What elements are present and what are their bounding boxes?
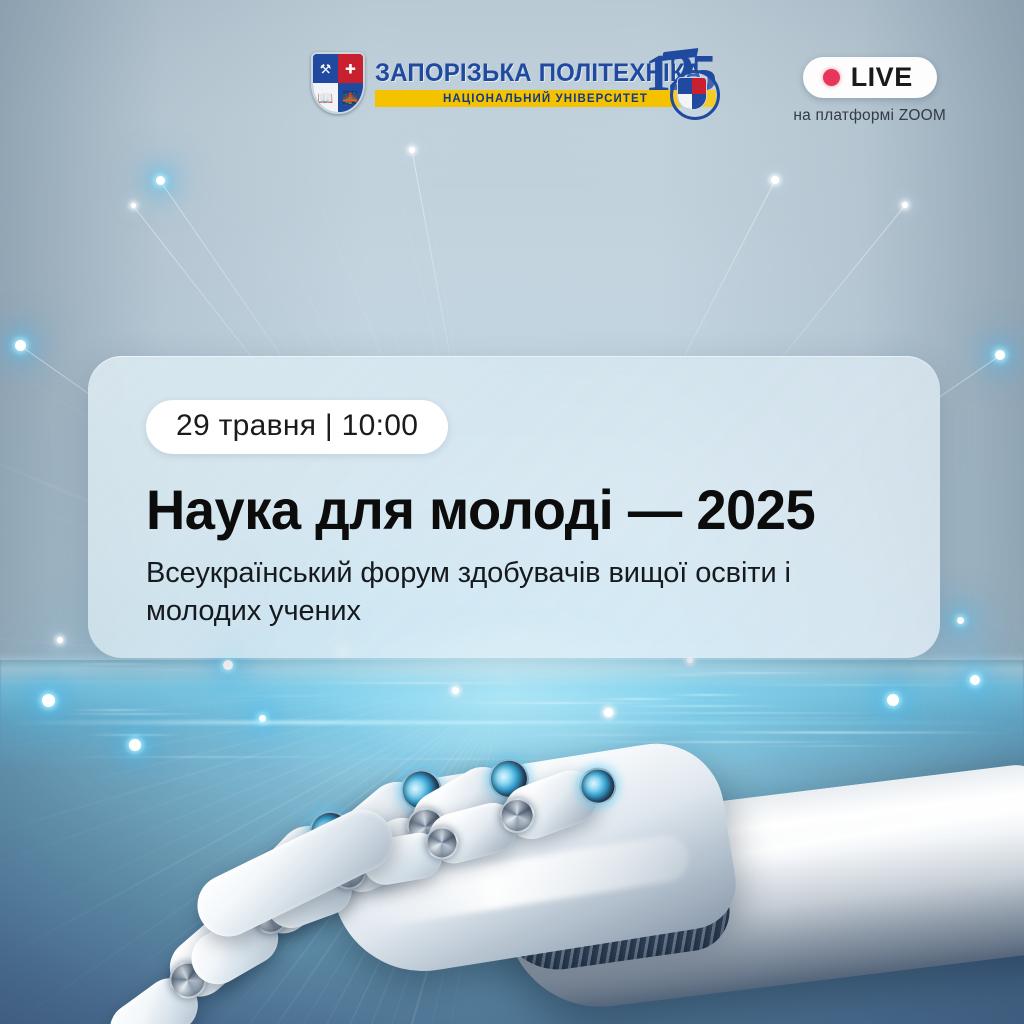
anniversary-shield-icon [677, 77, 707, 110]
live-broadcast-block: LIVE на платформі ZOOM [793, 57, 946, 125]
poster-header: ⚒ ✚ 📖 🌉 ЗАПОРІЗЬКА ПОЛІТЕХНІКА НАЦІОНАЛЬ… [0, 0, 1024, 150]
event-info-content: 29 травня | 10:00 Наука для молоді — 202… [88, 356, 940, 658]
platform-note: на платформі ZOOM [793, 107, 946, 125]
robotic-hand-illustration [0, 594, 1024, 1024]
shield-symbol-tools: ⚒ [320, 62, 332, 75]
event-title: Наука для молоді — 2025 [146, 481, 860, 538]
125-anniversary-icon: 125 [645, 48, 725, 116]
shield-symbol-cross: ✚ [345, 62, 356, 75]
event-subtitle: Всеукраїнський форум здобувачів вищої ос… [146, 554, 876, 631]
robot-finger [420, 791, 421, 792]
live-badge[interactable]: LIVE [803, 57, 937, 98]
poster-canvas: ⚒ ✚ 📖 🌉 ЗАПОРІЗЬКА ПОЛІТЕХНІКА НАЦІОНАЛЬ… [0, 0, 1024, 1024]
event-date-badge: 29 травня | 10:00 [146, 400, 448, 454]
live-label: LIVE [851, 64, 913, 91]
hand-glow-line [0, 721, 1024, 724]
zp-shield-emblem-icon: ⚒ ✚ 📖 🌉 [311, 52, 365, 114]
shield-symbol-book: 📖 [317, 91, 333, 104]
robot-finger [596, 787, 597, 788]
shield-symbol-bridge: 🌉 [342, 91, 358, 104]
event-info-card: 29 травня | 10:00 Наука для молоді — 202… [88, 356, 940, 658]
robot-finger [508, 780, 509, 781]
live-dot-icon [823, 69, 840, 86]
